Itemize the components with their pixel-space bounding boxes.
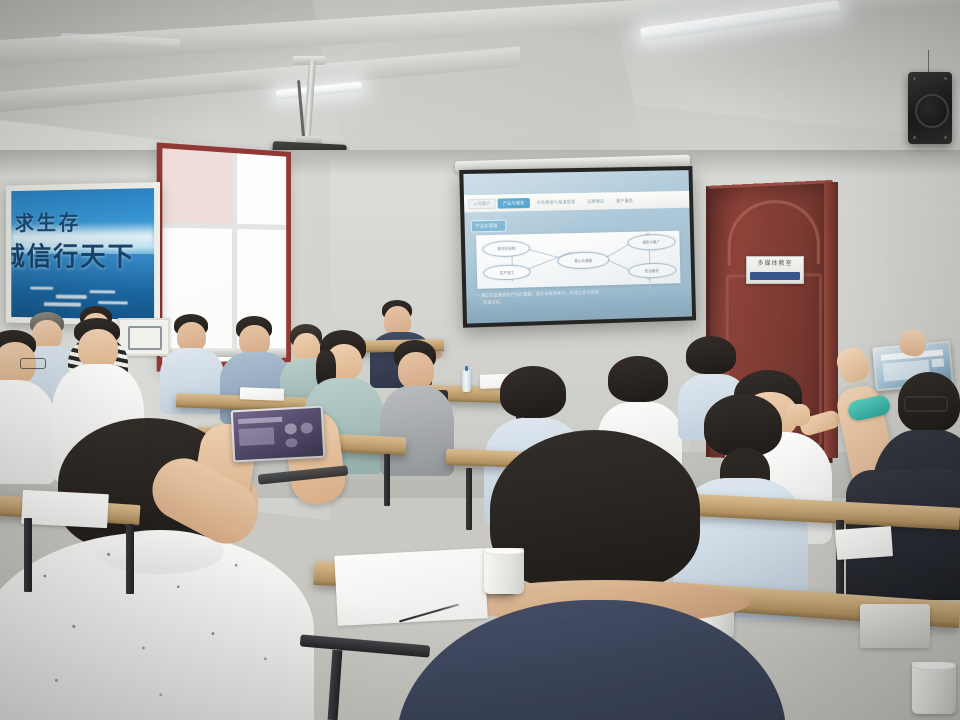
attendee-hand — [786, 404, 810, 426]
wall-framed-sign — [118, 318, 170, 356]
slide: 公司简介 产品与服务 市场营销与渠道管理 品牌建设 客户服务 产品价值链 — [463, 170, 692, 323]
poster-ship — [98, 301, 127, 304]
slide-tab-2[interactable]: 市场营销与渠道管理 — [531, 197, 580, 208]
attendee-hair — [500, 366, 566, 418]
poster-ship — [44, 302, 81, 306]
projection-screen-surface: 公司简介 产品与服务 市场营销与渠道管理 品牌建设 客户服务 产品价值链 — [463, 170, 692, 323]
slide-diagram: 原材料采购 生产加工 核心价值链 销售与推广 售后服务 — [476, 230, 680, 288]
attendee-head — [398, 352, 434, 389]
notepad — [835, 526, 893, 560]
speaker-screw — [944, 136, 947, 139]
attendee-hair — [608, 356, 668, 402]
slide-tab-1[interactable]: 产品与服务 — [498, 198, 530, 209]
wall-sign-glyph-icon — [128, 326, 162, 350]
attendee-torso — [0, 380, 56, 484]
attendee-head — [78, 329, 118, 369]
desk-leg — [24, 518, 32, 592]
tshirt-collar — [96, 530, 224, 574]
poster-line-1: 求生存 — [15, 212, 152, 234]
bag-on-desk — [860, 604, 930, 648]
speaker-cone-icon — [915, 94, 949, 128]
slide-tab-0[interactable]: 公司简介 — [468, 198, 496, 209]
diagram-node-2: 核心价值链 — [557, 251, 610, 269]
chair-frame — [300, 634, 431, 657]
attendee-hair — [686, 336, 736, 374]
desk-leg — [126, 524, 134, 594]
phone-screen-foreground — [233, 408, 323, 461]
attendee-torso — [380, 386, 454, 476]
paper-foreground — [334, 548, 487, 626]
poster-line-2: 诚信行天下 — [6, 244, 160, 271]
paper-cup-center — [484, 548, 524, 594]
door-sign-bar — [750, 272, 800, 280]
projection-screen: 公司简介 产品与服务 市场营销与渠道管理 品牌建设 客户服务 产品价值链 — [459, 166, 696, 328]
diagram-node-4: 售后服务 — [628, 262, 676, 279]
glasses-icon — [20, 358, 46, 369]
attendee-hair — [704, 394, 782, 456]
slide-tab-3[interactable]: 品牌建设 — [582, 196, 609, 207]
speaker-wire — [928, 50, 929, 74]
smartphone-foreground-left[interactable] — [231, 406, 326, 463]
door-room-sign: 多媒体教室 — [746, 256, 804, 284]
glasses-icon — [904, 396, 948, 412]
desk-leg — [384, 454, 390, 506]
chair-leg — [328, 650, 343, 720]
speaker-screw — [913, 77, 916, 80]
diagram-node-1: 生产加工 — [483, 264, 531, 281]
slide-bullets: • 通过打造高效的产品价值链，提升市场竞争力，实现企业可持续 发展目标。 — [478, 287, 681, 305]
speaker-screw — [944, 77, 947, 80]
poster-ship — [56, 295, 87, 299]
wall-speaker — [908, 72, 952, 144]
diagram-node-0: 原材料采购 — [483, 240, 531, 257]
wall-poster: 求生存 诚信行天下 — [6, 182, 160, 326]
desk-leg — [466, 468, 472, 530]
notepad-left — [21, 490, 109, 528]
door-sign-text: 多媒体教室 — [747, 258, 803, 267]
notepad — [240, 387, 284, 401]
paper-cup-corner — [912, 662, 956, 714]
window-pane-top-left — [162, 148, 231, 223]
poster-ship — [90, 290, 116, 293]
slide-tab-bar: 公司简介 产品与服务 市场营销与渠道管理 品牌建设 客户服务 — [464, 191, 690, 213]
diagram-node-3: 销售与推广 — [627, 234, 675, 251]
slide-tab-4[interactable]: 客户服务 — [611, 195, 638, 205]
water-bottle — [462, 370, 471, 392]
speaker-screw — [913, 136, 916, 139]
slide-section-chip: 产品价值链 — [471, 219, 506, 232]
classroom-photo: 求生存 诚信行天下 多媒体教室 公司简介 产品与服务 市场营销与渠道管理 — [0, 0, 960, 720]
